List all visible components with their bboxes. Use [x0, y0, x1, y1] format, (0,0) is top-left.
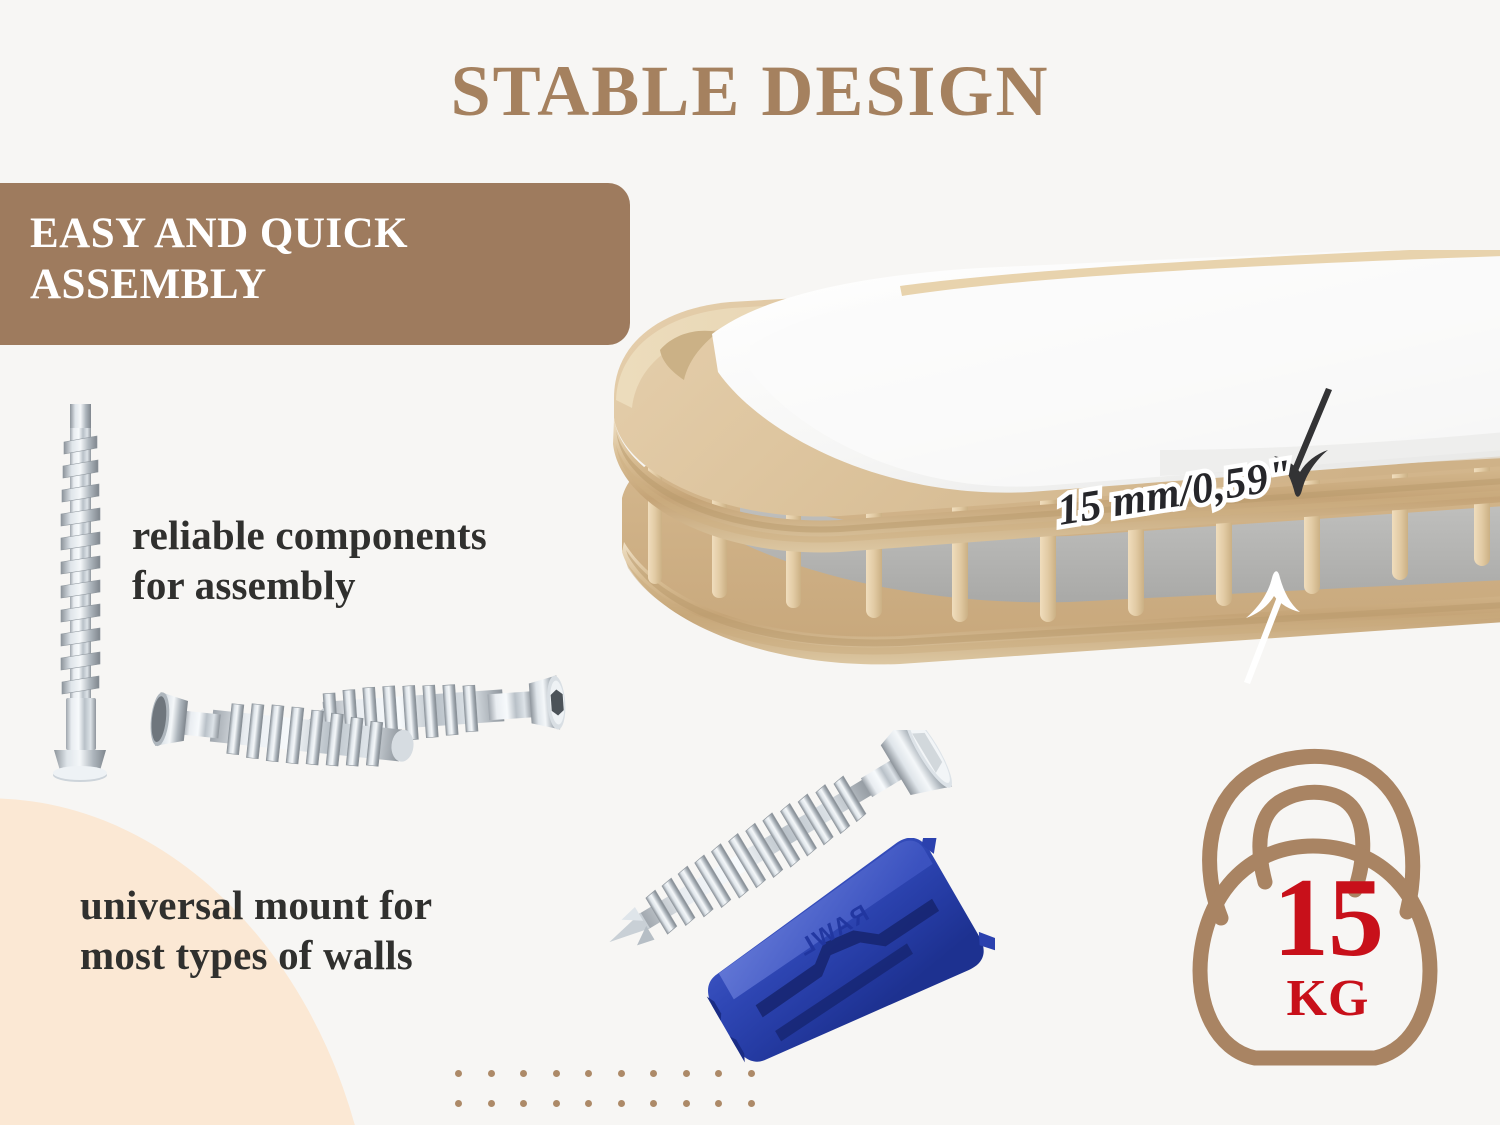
feature-1-line-2: for assembly [132, 560, 652, 610]
poster-canvas: 15 mm/0,59" 15 mm/0,59" STABLE DESIGN EA… [0, 0, 1500, 1125]
dot [715, 1100, 722, 1107]
dot [585, 1100, 592, 1107]
easy-assembly-badge: EASY AND QUICK ASSEMBLY [0, 183, 630, 345]
feature-text-reliable-components: reliable components for assembly [132, 510, 652, 610]
decorative-dot-grid [455, 1070, 755, 1125]
kettlebell-icon [1163, 740, 1493, 1090]
wall-plug-icon: RAWL [695, 838, 995, 1073]
feature-text-universal-mount: universal mount for most types of walls [80, 880, 600, 980]
dot [488, 1070, 495, 1077]
dot [683, 1070, 690, 1077]
dot [650, 1070, 657, 1077]
feature-2-line-1: universal mount for [80, 880, 600, 930]
dot [650, 1100, 657, 1107]
badge-line-1: EASY AND QUICK [30, 209, 600, 260]
dot-row [455, 1100, 755, 1107]
dot [748, 1070, 755, 1077]
dot [455, 1100, 462, 1107]
dot [455, 1070, 462, 1077]
badge-line-2: ASSEMBLY [30, 260, 600, 311]
dot [553, 1070, 560, 1077]
page-title: STABLE DESIGN [0, 55, 1500, 127]
dot [553, 1100, 560, 1107]
dot [618, 1070, 625, 1077]
white-arrow-icon [1212, 556, 1322, 686]
dot [683, 1100, 690, 1107]
dot [748, 1100, 755, 1107]
dot [520, 1100, 527, 1107]
confirmat-screw-pair-icon [140, 655, 590, 815]
confirmat-screw-icon [44, 398, 116, 790]
dot [715, 1070, 722, 1077]
feature-1-line-1: reliable components [132, 510, 652, 560]
feature-2-line-2: most types of walls [80, 930, 600, 980]
dot [585, 1070, 592, 1077]
dot [618, 1100, 625, 1107]
dot-row [455, 1070, 755, 1077]
dot [488, 1100, 495, 1107]
dot [520, 1070, 527, 1077]
